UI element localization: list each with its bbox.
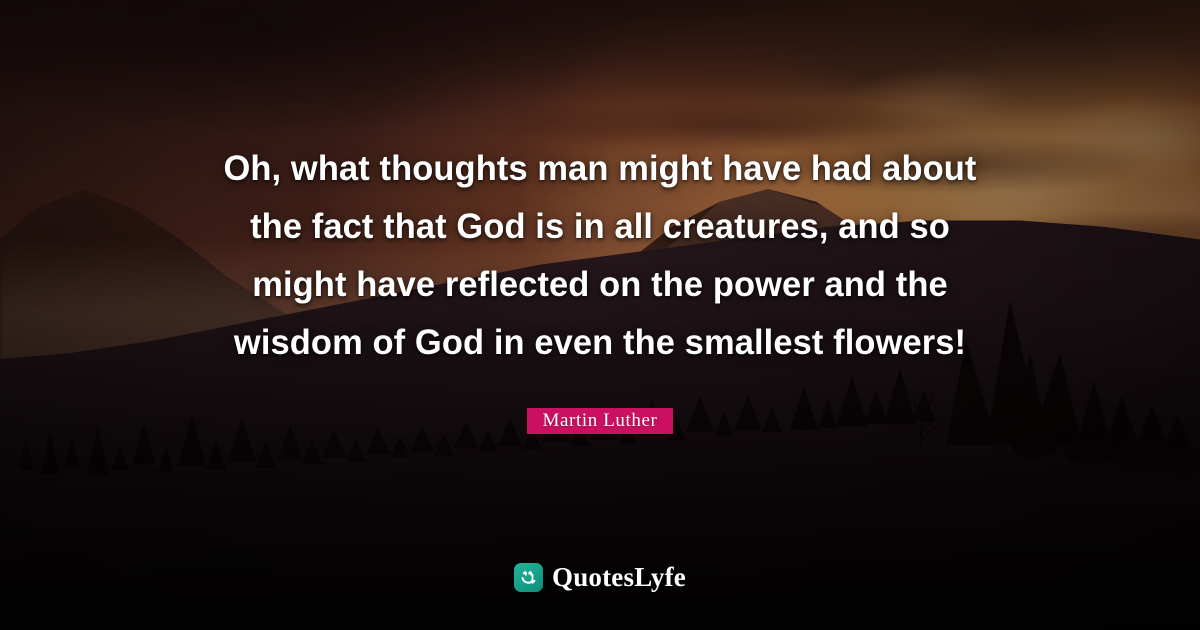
quote-line: Oh, what thoughts man might have had abo… — [108, 140, 1093, 198]
quote-line: the fact that God is in all creatures, a… — [108, 198, 1093, 256]
brand-name: QuotesLyfe — [552, 564, 686, 591]
author-name-badge[interactable]: Martin Luther — [527, 408, 674, 434]
quote-text-block: Oh, what thoughts man might have had abo… — [0, 140, 1200, 372]
quote-line: wisdom of God in even the smallest flowe… — [108, 314, 1093, 372]
brand-bar[interactable]: QuotesLyfe — [0, 563, 1200, 592]
quote-line: might have reflected on the power and th… — [108, 256, 1093, 314]
author-badge-container: Martin Luther — [0, 408, 1200, 434]
quote-marks-icon — [514, 563, 543, 592]
card-content: Oh, what thoughts man might have had abo… — [0, 0, 1200, 630]
quote-card: Oh, what thoughts man might have had abo… — [0, 0, 1200, 630]
